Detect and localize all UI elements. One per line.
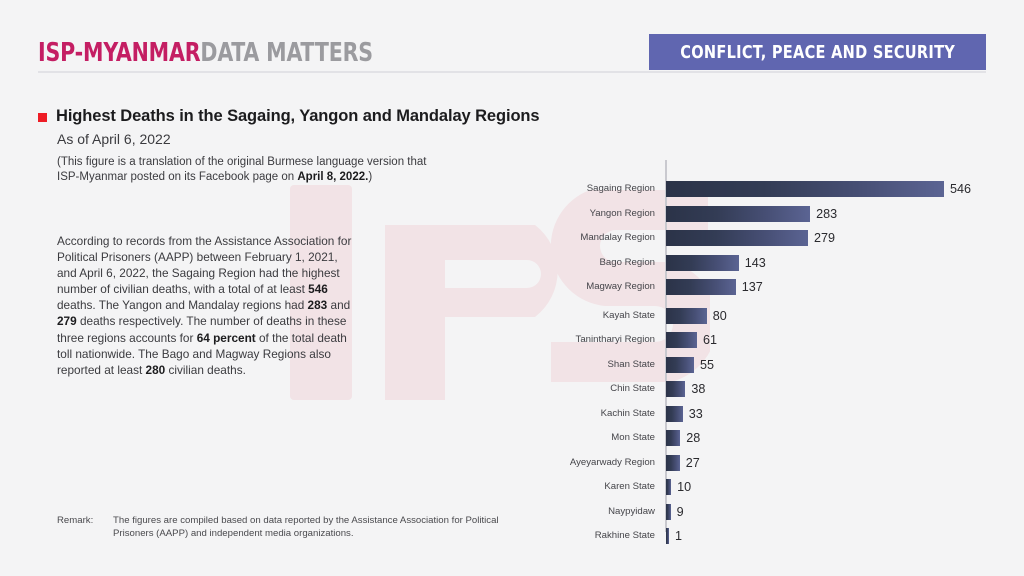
chart-row: Chin State38 xyxy=(560,381,1000,397)
chart-bar xyxy=(666,406,683,422)
remark-label: Remark: xyxy=(57,514,113,540)
chart-bar-wrapper: 283 xyxy=(666,206,1000,222)
chart-value-label: 61 xyxy=(703,332,717,348)
chart-category-label: Magway Region xyxy=(560,279,661,295)
chart-category-label: Bago Region xyxy=(560,255,661,271)
chart-category-label: Rakhine State xyxy=(560,528,661,544)
page-subtitle: As of April 6, 2022 xyxy=(57,131,171,147)
chart-bar-wrapper: 80 xyxy=(666,308,1000,324)
chart-row: Sagaing Region546 xyxy=(560,181,1000,197)
chart-bar xyxy=(666,528,669,544)
body-highlight-5: 279 xyxy=(57,314,77,328)
chart-value-label: 9 xyxy=(677,504,684,520)
translation-note-line-2-suffix: ) xyxy=(368,171,372,183)
section-tag-badge: CONFLICT, PEACE AND SECURITY xyxy=(649,34,986,70)
chart-bar xyxy=(666,479,671,495)
chart-bar xyxy=(666,381,685,397)
chart-value-label: 38 xyxy=(691,381,705,397)
translation-note-date: April 8, 2022. xyxy=(297,171,368,183)
section-tag-label: CONFLICT, PEACE AND SECURITY xyxy=(680,42,955,63)
chart-bar-wrapper: 28 xyxy=(666,430,1000,446)
chart-row: Yangon Region283 xyxy=(560,206,1000,222)
logo-secondary-text: DATA MATTERS xyxy=(200,38,372,68)
remark-text: The figures are compiled based on data r… xyxy=(113,514,523,540)
chart-value-label: 279 xyxy=(814,230,835,246)
chart-category-label: Chin State xyxy=(560,381,661,397)
chart-bar-wrapper: 546 xyxy=(666,181,1000,197)
chart-bar xyxy=(666,181,944,197)
chart-bar-wrapper: 27 xyxy=(666,455,1000,471)
chart-category-label: Yangon Region xyxy=(560,206,661,222)
chart-bar-wrapper: 143 xyxy=(666,255,1000,271)
chart-bar-wrapper: 61 xyxy=(666,332,1000,348)
chart-row: Tanintharyi Region61 xyxy=(560,332,1000,348)
chart-category-label: Mandalay Region xyxy=(560,230,661,246)
translation-note-line-1: (This figure is a translation of the ori… xyxy=(57,156,426,168)
chart-row: Karen State10 xyxy=(560,479,1000,495)
body-highlight-7: 64 percent xyxy=(197,331,256,345)
body-highlight-3: 283 xyxy=(308,298,328,312)
chart-value-label: 27 xyxy=(686,455,700,471)
chart-bar xyxy=(666,255,739,271)
chart-category-label: Mon State xyxy=(560,430,661,446)
chart-bar xyxy=(666,230,808,246)
chart-bar-wrapper: 33 xyxy=(666,406,1000,422)
title-bullet-square xyxy=(38,113,47,122)
chart-value-label: 33 xyxy=(689,406,703,422)
translation-note: (This figure is a translation of the ori… xyxy=(57,155,497,185)
chart-row: Ayeyarwady Region27 xyxy=(560,455,1000,471)
deaths-bar-chart: Sagaing Region546Yangon Region283Mandala… xyxy=(560,160,1000,535)
chart-category-label: Sagaing Region xyxy=(560,181,661,197)
chart-row: Mandalay Region279 xyxy=(560,230,1000,246)
remark-block: Remark: The figures are compiled based o… xyxy=(57,514,523,540)
chart-bar-wrapper: 10 xyxy=(666,479,1000,495)
chart-bar xyxy=(666,332,697,348)
chart-row: Naypyidaw9 xyxy=(560,504,1000,520)
chart-category-label: Shan State xyxy=(560,357,661,373)
chart-bar-wrapper: 55 xyxy=(666,357,1000,373)
chart-category-label: Kayah State xyxy=(560,308,661,324)
chart-value-label: 283 xyxy=(816,206,837,222)
chart-row: Kayah State80 xyxy=(560,308,1000,324)
chart-value-label: 143 xyxy=(745,255,766,271)
logo-primary-text: ISP-MYANMAR xyxy=(38,38,200,68)
chart-category-label: Naypyidaw xyxy=(560,504,661,520)
chart-row: Rakhine State1 xyxy=(560,528,1000,544)
chart-bar-wrapper: 38 xyxy=(666,381,1000,397)
chart-row: Mon State28 xyxy=(560,430,1000,446)
page-header: ISP-MYANMARDATA MATTERS CONFLICT, PEACE … xyxy=(0,0,1024,82)
chart-category-label: Tanintharyi Region xyxy=(560,332,661,348)
chart-row: Magway Region137 xyxy=(560,279,1000,295)
body-text-run-2: deaths. The Yangon and Mandalay regions … xyxy=(57,298,308,312)
chart-row: Kachin State33 xyxy=(560,406,1000,422)
chart-value-label: 28 xyxy=(686,430,700,446)
chart-value-label: 1 xyxy=(675,528,682,544)
body-highlight-1: 546 xyxy=(308,282,328,296)
body-highlight-9: 280 xyxy=(146,363,166,377)
page-title: Highest Deaths in the Sagaing, Yangon an… xyxy=(56,107,539,126)
chart-category-label: Ayeyarwady Region xyxy=(560,455,661,471)
chart-bar xyxy=(666,279,736,295)
chart-row: Bago Region143 xyxy=(560,255,1000,271)
chart-bar xyxy=(666,430,680,446)
chart-bar xyxy=(666,455,680,471)
chart-bar-wrapper: 137 xyxy=(666,279,1000,295)
chart-bar-wrapper: 279 xyxy=(666,230,1000,246)
body-text-run-10: civilian deaths. xyxy=(165,363,246,377)
body-paragraph: According to records from the Assistance… xyxy=(57,233,357,378)
chart-bar-wrapper: 1 xyxy=(666,528,1000,544)
chart-value-label: 546 xyxy=(950,181,971,197)
chart-category-label: Kachin State xyxy=(560,406,661,422)
chart-bar-wrapper: 9 xyxy=(666,504,1000,520)
chart-bar xyxy=(666,357,694,373)
chart-value-label: 80 xyxy=(713,308,727,324)
translation-note-line-2-prefix: ISP-Myanmar posted on its Facebook page … xyxy=(57,171,297,183)
header-divider xyxy=(38,71,986,73)
chart-bar xyxy=(666,308,707,324)
chart-value-label: 137 xyxy=(742,279,763,295)
body-text-run-4: and xyxy=(327,298,350,312)
chart-row: Shan State55 xyxy=(560,357,1000,373)
chart-category-label: Karen State xyxy=(560,479,661,495)
chart-value-label: 55 xyxy=(700,357,714,373)
isp-myanmar-logo: ISP-MYANMARDATA MATTERS xyxy=(38,38,373,68)
chart-bar xyxy=(666,206,810,222)
chart-value-label: 10 xyxy=(677,479,691,495)
chart-bar xyxy=(666,504,671,520)
